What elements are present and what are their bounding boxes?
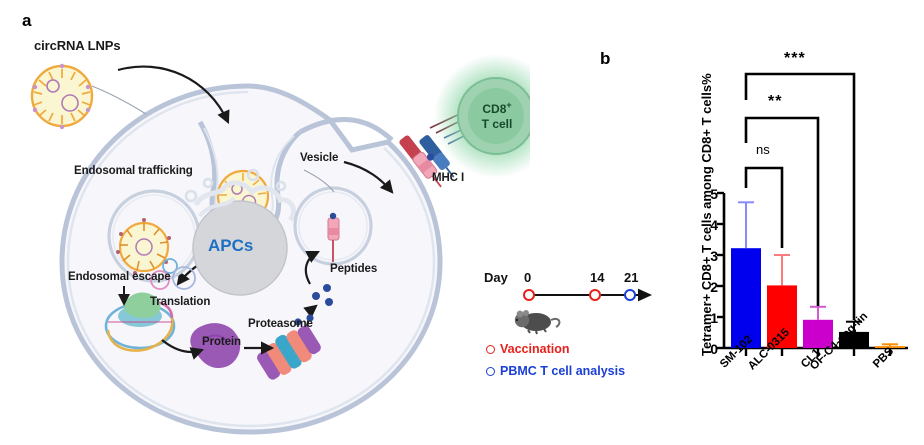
panel-b-chart: b Tetramer+ CD8+ T cells among CD8+ T ce… [596,0,924,445]
label-endosomal-trafficking: Endosomal trafficking [74,165,193,177]
label-mhc-i: MHC I [432,172,464,184]
label-vesicle: Vesicle [300,152,338,164]
panel-a-diagram: a [0,0,530,445]
timeline-tick-label-0: 0 [524,270,531,285]
legend-label-vaccination: Vaccination [500,342,569,356]
label-circrna-lnps: circRNA LNPs [34,38,120,53]
timeline-legend-vaccination: Vaccination [486,342,569,356]
label-peptides: Peptides [330,263,377,275]
cd8-text: CD8 [482,102,506,116]
mouse-icon [515,310,560,334]
significance-brackets [746,74,854,320]
sig-label-3star: *** [784,50,806,68]
t-cell-text: T cell [482,117,513,131]
sig-label-ns: ns [756,142,770,157]
label-proteasome: Proteasome [248,318,313,330]
cd8-plus-sup: + [506,100,511,110]
label-translation: Translation [150,296,210,308]
cell-diagram-svg [0,0,530,445]
timeline-day-label: Day [484,270,508,285]
lnp-particle-free [32,64,92,129]
legend-ring-pbmc [486,367,495,376]
label-cd8-t-cell: CD8+ T cell [472,100,522,132]
sig-label-2star: ** [768,93,782,111]
label-endosomal-escape: Endosomal escape [68,271,171,283]
bracket-3star [746,74,854,320]
bar-chart-svg [596,0,924,445]
label-apcs: APCs [208,236,253,256]
legend-ring-vaccination [486,345,495,354]
bracket-ns [746,168,782,248]
label-protein: Protein [202,336,241,348]
